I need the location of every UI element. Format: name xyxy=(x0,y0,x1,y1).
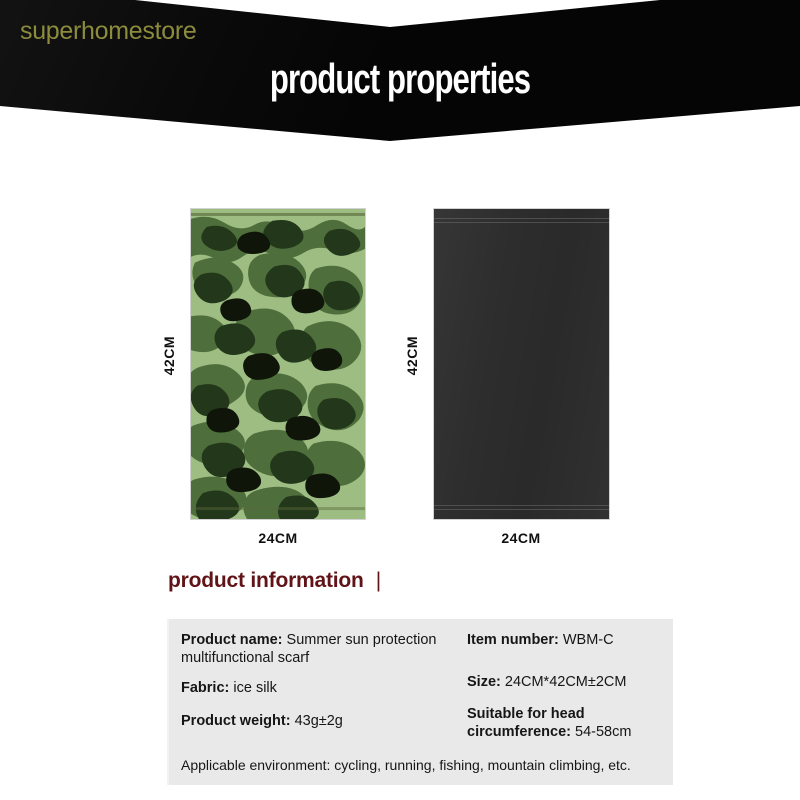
label-product-name: Product name: xyxy=(181,632,283,648)
info-row-head-circumference: Suitable for head circumference: 54-58cm xyxy=(467,706,667,741)
product-information-heading-text: product information xyxy=(168,569,364,592)
camouflage-width-dimension-label: 24CM xyxy=(228,530,328,546)
hem-line-top-inner xyxy=(434,222,609,223)
heading-divider-bar: | xyxy=(376,569,381,593)
info-row-item-number: Item number: WBM-C xyxy=(467,632,667,650)
value-product-weight: 43g±2g xyxy=(295,713,343,729)
info-row-product-name: Product name: Summer sun protection mult… xyxy=(181,632,461,667)
brand-logo-text: superhomestore xyxy=(20,17,196,46)
page-title: product properties xyxy=(104,58,696,100)
label-fabric: Fabric: xyxy=(181,680,229,696)
camouflage-pattern-graphic xyxy=(191,209,365,519)
hem-line-bottom-inner xyxy=(434,505,609,506)
info-row-size: Size: 24CM*42CM±2CM xyxy=(467,674,667,692)
info-row-applicable-environment: Applicable environment: cycling, running… xyxy=(181,757,631,773)
value-size: 24CM*42CM±2CM xyxy=(505,674,627,690)
product-images-area: 42CM 24CM 42CM 24CM xyxy=(0,200,800,550)
camouflage-scarf-image xyxy=(190,208,366,520)
camouflage-height-dimension-label: 42CM xyxy=(161,336,177,375)
label-product-weight: Product weight: xyxy=(181,713,291,729)
product-information-grid: Product name: Summer sun protection mult… xyxy=(169,619,673,785)
hem-line-bottom-outer xyxy=(434,509,609,510)
info-column-left: Product name: Summer sun protection mult… xyxy=(181,632,461,731)
black-scarf-image xyxy=(433,208,610,520)
product-information-heading: product information| xyxy=(168,569,381,593)
value-head-circumference: 54-58cm xyxy=(575,724,631,740)
info-column-right: Item number: WBM-C Size: 24CM*42CM±2CM S… xyxy=(467,632,667,742)
value-fabric: ice silk xyxy=(233,680,277,696)
label-item-number: Item number: xyxy=(467,632,559,648)
value-item-number: WBM-C xyxy=(563,632,614,648)
info-row-product-weight: Product weight: 43g±2g xyxy=(181,713,461,731)
label-head-circumference: Suitable for head circumference: xyxy=(467,706,585,740)
black-width-dimension-label: 24CM xyxy=(471,530,571,546)
hem-line-top-outer xyxy=(434,218,609,219)
label-size: Size: xyxy=(467,674,501,690)
product-information-panel: Product name: Summer sun protection mult… xyxy=(167,619,673,785)
info-row-fabric: Fabric: ice silk xyxy=(181,680,461,698)
black-height-dimension-label: 42CM xyxy=(404,336,420,375)
